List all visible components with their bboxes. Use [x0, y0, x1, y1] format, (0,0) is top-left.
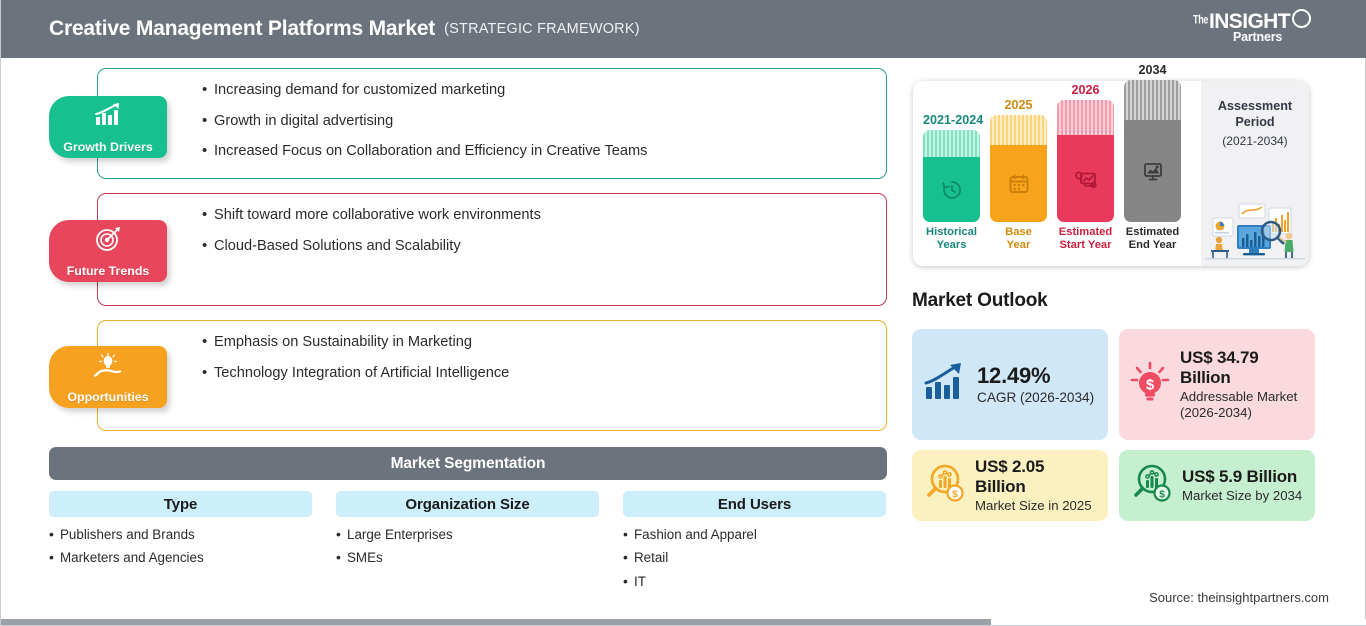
- list-item: Retail: [623, 551, 886, 564]
- timeline-bar-year: 2025: [990, 99, 1047, 112]
- page-title: Creative Management Platforms Market: [49, 17, 435, 41]
- growth-chart-icon: [93, 102, 123, 128]
- segmentation-list: Publishers and Brands Marketers and Agen…: [49, 528, 312, 565]
- list-item: SMEs: [336, 551, 599, 564]
- market-outlook-title: Market Outlook: [912, 290, 1048, 312]
- logo-insight: INSIGHT: [1209, 11, 1290, 32]
- timeline-bar-year: 2026: [1057, 84, 1114, 97]
- bullet-item: Growth in digital advertising: [202, 114, 870, 129]
- segmentation-column-organization-size: Organization Size Large Enterprises SMEs: [336, 491, 599, 598]
- timeline-bar-stripes: [1124, 80, 1181, 120]
- card-text: 12.49% CAGR (2026-2034): [977, 363, 1094, 406]
- bar-chart-arrow-icon: [922, 361, 968, 408]
- card-value: US$ 2.05 Billion: [975, 457, 1098, 497]
- horizontal-scrollbar[interactable]: [1, 619, 1366, 625]
- assessment-period-title: AssessmentPeriod: [1201, 99, 1309, 130]
- card-market-size-2034: $ US$ 5.9 Billion Market Size by 2034: [1119, 450, 1315, 521]
- list-item: Marketers and Agencies: [49, 551, 312, 564]
- badge-future-trends[interactable]: Future Trends: [49, 220, 167, 282]
- card-text: US$ 2.05 Billion Market Size in 2025: [975, 457, 1098, 514]
- svg-text:$: $: [952, 490, 958, 501]
- list-item: Large Enterprises: [336, 528, 599, 541]
- badge-label: Future Trends: [67, 265, 150, 277]
- logo-the: The: [1193, 14, 1208, 26]
- assessment-period-range: (2021-2034): [1201, 134, 1309, 148]
- timeline-bar-2025: 2025 BaseYear: [990, 99, 1047, 252]
- segmentation-columns: Type Publishers and Brands Marketers and…: [49, 491, 887, 598]
- assessment-period-panel: AssessmentPeriod (2021-2034): [1201, 81, 1309, 266]
- segmentation-list: Fashion and Apparel Retail IT: [623, 528, 886, 588]
- timeline-bar-stripes: [990, 115, 1047, 145]
- svg-text:$: $: [1146, 377, 1155, 394]
- page-header: Creative Management Platforms Market (ST…: [1, 0, 1366, 58]
- svg-text:$: $: [1159, 490, 1165, 501]
- factor-bullets-opportunities: Emphasis on Sustainability in Marketing …: [98, 321, 886, 394]
- target-dart-icon: [93, 226, 123, 252]
- factor-panel-opportunities: Emphasis on Sustainability in Marketing …: [97, 320, 887, 431]
- calendar-icon: [1008, 173, 1030, 195]
- list-item: Publishers and Brands: [49, 528, 312, 541]
- segmentation-column-type: Type Publishers and Brands Marketers and…: [49, 491, 312, 598]
- assessment-timeline-card: 2021-2024 HistoricalYears: [913, 81, 1309, 266]
- lightbulb-hand-icon: [93, 352, 123, 378]
- card-cagr: 12.49% CAGR (2026-2034): [912, 329, 1108, 440]
- card-market-size-2025: $ US$ 2.05 Billion Market Size in 2025: [912, 450, 1108, 521]
- timeline-bar-body: [1057, 135, 1114, 222]
- timeline-bar-2021-2024: 2021-2024 HistoricalYears: [923, 114, 980, 252]
- factor-bullets-growth-drivers: Increasing demand for customized marketi…: [98, 69, 886, 173]
- dollar-lightbulb-icon: $: [1129, 360, 1171, 409]
- outlook-cards: 12.49% CAGR (2026-2034): [912, 329, 1332, 531]
- card-value: 12.49%: [977, 363, 1094, 389]
- timeline-bar-2034: 2034 EstimatedEnd: [1124, 64, 1181, 252]
- card-text: US$ 5.9 Billion Market Size by 2034: [1182, 467, 1302, 504]
- factor-bullets-future-trends: Shift toward more collaborative work env…: [98, 194, 886, 267]
- card-addressable-market: $ US$ 34.79 Billion Addressable Market (…: [1119, 329, 1315, 440]
- timeline-bar-name: EstimatedEnd Year: [1124, 226, 1181, 252]
- bullet-item: Emphasis on Sustainability in Marketing: [202, 335, 870, 350]
- card-label: CAGR (2026-2034): [977, 390, 1094, 406]
- segmentation-column-header: End Users: [623, 491, 886, 517]
- market-segmentation-title: Market Segmentation: [49, 447, 887, 480]
- timeline-bar-name: BaseYear: [990, 226, 1047, 252]
- timeline-bar-year: 2021-2024: [923, 114, 980, 127]
- logo-bubble-icon: [1292, 9, 1311, 28]
- factor-panel-future-trends: Shift toward more collaborative work env…: [97, 193, 887, 306]
- list-item: IT: [623, 575, 886, 588]
- right-column: 2021-2024 HistoricalYears: [906, 58, 1366, 626]
- badge-label: Opportunities: [67, 391, 148, 403]
- timeline-bar-stripes: [923, 130, 980, 157]
- scrollbar-thumb[interactable]: [1, 619, 991, 625]
- badge-opportunities[interactable]: Opportunities: [49, 346, 167, 408]
- timeline-bar-body: [990, 145, 1047, 222]
- factor-panel-growth-drivers: Increasing demand for customized marketi…: [97, 68, 887, 179]
- timeline-bar-name: HistoricalYears: [923, 226, 980, 252]
- left-column: Increasing demand for customized marketi…: [1, 58, 906, 626]
- insight-partners-logo: The INSIGHT Partners: [1193, 9, 1311, 49]
- timeline-bar-stripes: [1057, 100, 1114, 135]
- card-label: Addressable Market (2026-2034): [1180, 389, 1305, 420]
- clock-history-icon: [941, 179, 963, 201]
- outlook-card-row-2: $ US$ 2.05 Billion Market Size in 2025: [912, 450, 1332, 521]
- card-value: US$ 5.9 Billion: [1182, 467, 1302, 487]
- badge-label: Growth Drivers: [63, 141, 153, 153]
- bullet-item: Increased Focus on Collaboration and Eff…: [202, 144, 870, 159]
- timeline-bar-year: 2034: [1124, 64, 1181, 77]
- bullet-item: Shift toward more collaborative work env…: [202, 208, 870, 223]
- card-value: US$ 34.79 Billion: [1180, 348, 1305, 388]
- timeline-bar-body: [1124, 120, 1181, 222]
- infographic-page: Creative Management Platforms Market (ST…: [0, 0, 1366, 626]
- analytics-illustration: [1205, 198, 1305, 260]
- timeline-bar-name: EstimatedStart Year: [1057, 226, 1114, 252]
- magnifier-chart-orange-icon: $: [922, 461, 966, 510]
- segmentation-column-end-users: End Users Fashion and Apparel Retail IT: [623, 491, 886, 598]
- outlook-card-row-1: 12.49% CAGR (2026-2034): [912, 329, 1332, 440]
- logo-partners: Partners: [1233, 31, 1282, 44]
- forecast-screen-icon: [1074, 168, 1098, 190]
- segmentation-column-header: Type: [49, 491, 312, 517]
- timeline-bars: 2021-2024 HistoricalYears: [913, 81, 1201, 266]
- segmentation-column-header: Organization Size: [336, 491, 599, 517]
- magnifier-chart-green-icon: $: [1129, 461, 1173, 510]
- card-label: Market Size in 2025: [975, 498, 1098, 514]
- bullet-item: Increasing demand for customized marketi…: [202, 83, 870, 98]
- bullet-item: Technology Integration of Artificial Int…: [202, 366, 870, 381]
- timeline-bar-body: [923, 157, 980, 222]
- person-left: [1211, 237, 1229, 258]
- page-subtitle: (STRATEGIC FRAMEWORK): [444, 21, 640, 37]
- card-label: Market Size by 2034: [1182, 488, 1302, 504]
- list-item: Fashion and Apparel: [623, 528, 886, 541]
- presentation-screen-icon: [1141, 160, 1165, 182]
- card-text: US$ 34.79 Billion Addressable Market (20…: [1180, 348, 1305, 420]
- badge-growth-drivers[interactable]: Growth Drivers: [49, 96, 167, 158]
- source-text: Source: theinsightpartners.com: [1149, 590, 1329, 605]
- bullet-item: Cloud-Based Solutions and Scalability: [202, 239, 870, 254]
- person-right: [1280, 233, 1294, 259]
- timeline-bar-2026: 2026: [1057, 84, 1114, 252]
- segmentation-list: Large Enterprises SMEs: [336, 528, 599, 565]
